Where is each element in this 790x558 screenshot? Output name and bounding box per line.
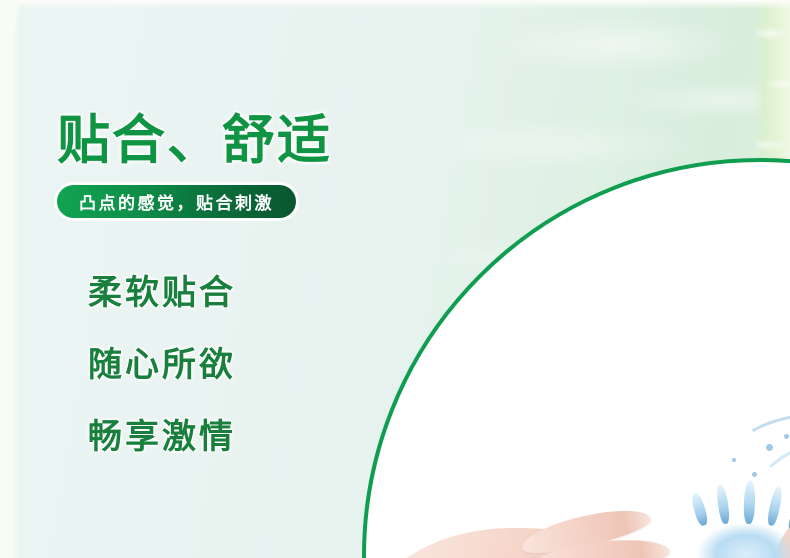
water-splash-icon [680,514,790,558]
copy-block: 贴合、舒适 凸点的感觉，贴合刺激 柔软贴合 随心所欲 畅享激情 [0,0,380,558]
circular-photo-medallion [362,158,790,558]
water-droplet-icon [732,458,736,462]
hands-water-artwork [466,432,790,558]
tagline-badge: 凸点的感觉，贴合刺激 [57,185,296,218]
medallion-photo [366,162,790,558]
headline: 贴合、舒适 [57,110,332,171]
water-droplet-icon [752,472,757,477]
feature-item-2: 随心所欲 [88,348,236,382]
product-feature-banner: 贴合、舒适 凸点的感觉，贴合刺激 柔软贴合 随心所欲 畅享激情 [0,0,790,558]
feature-list: 柔软贴合 随心所欲 畅享激情 [88,276,236,454]
feature-item-3: 畅享激情 [88,420,236,454]
feature-item-1: 柔软贴合 [88,276,236,310]
tagline-badge-label: 凸点的感觉，贴合刺激 [79,189,274,214]
water-droplet-icon [784,434,789,439]
water-droplet-icon [766,444,773,451]
